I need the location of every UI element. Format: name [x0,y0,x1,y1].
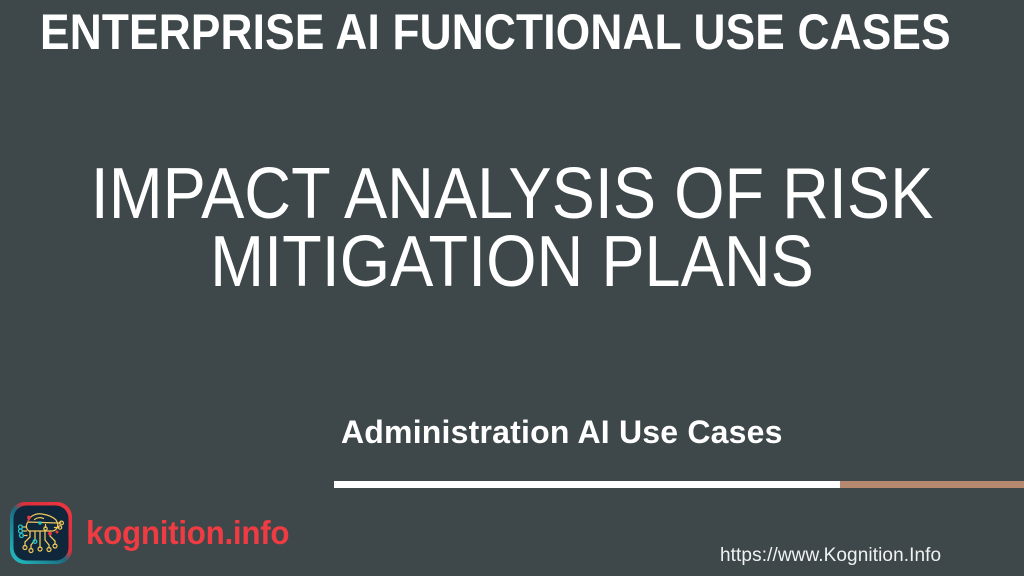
footer-url: https://www.Kognition.Info [720,544,941,568]
slide-divider [334,481,1024,488]
brand-name-label: kognition.info [86,516,289,550]
slide-title-line-1: IMPACT ANALYSIS OF RISK [51,160,973,228]
brand-lockup: kognition.info [8,500,300,566]
slide-title: IMPACT ANALYSIS OF RISK MITIGATION PLANS [0,160,1024,296]
presentation-slide: ENTERPRISE AI FUNCTIONAL USE CASES IMPAC… [0,0,1024,576]
slide-subtitle: Administration AI Use Cases [341,412,961,452]
divider-segment-white [334,481,840,488]
slide-title-line-2: MITIGATION PLANS [51,228,973,296]
circuit-brain-icon [8,500,74,566]
divider-segment-accent [840,481,1024,488]
slide-eyebrow-heading: ENTERPRISE AI FUNCTIONAL USE CASES [40,4,881,60]
